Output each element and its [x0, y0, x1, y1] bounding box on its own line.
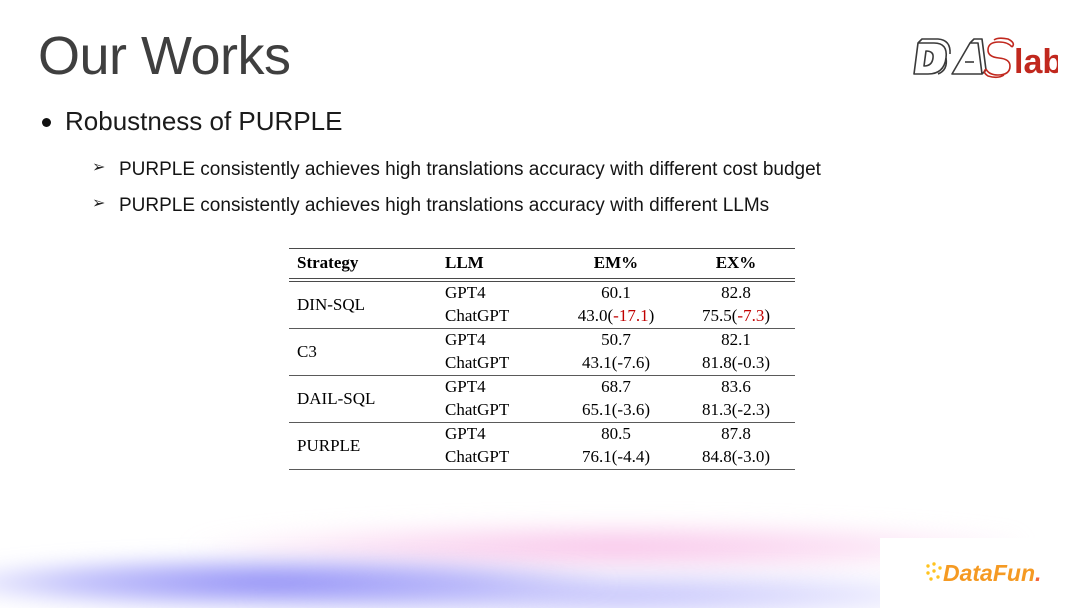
cell-llm: GPT4 [437, 282, 555, 306]
bullet-dot-icon [42, 118, 51, 127]
cell-em: 43.1(-7.6) [555, 352, 677, 376]
cell-llm: ChatGPT [437, 446, 555, 470]
cell-ex: 82.1 [677, 329, 795, 353]
datafun-wordmark-text: DataFun. [943, 560, 1041, 586]
table-row: DIN-SQLGPT460.182.8 [289, 282, 795, 306]
main-bullet-text: Robustness of PURPLE [65, 106, 342, 137]
col-header-ex: EX% [677, 249, 795, 279]
cell-llm: GPT4 [437, 423, 555, 447]
cell-strategy: DAIL-SQL [289, 376, 437, 423]
cell-em: 60.1 [555, 282, 677, 306]
col-header-llm: LLM [437, 249, 555, 279]
datafun-logo-icon: DataFun. [924, 556, 1064, 590]
results-table-wrapper: Strategy LLM EM% EX% DIN-SQLGPT460.182.8… [289, 248, 795, 470]
cell-llm: GPT4 [437, 329, 555, 353]
cell-llm: ChatGPT [437, 352, 555, 376]
daslab-lab-text: lab [1014, 43, 1058, 80]
sub-bullet-2: ➢ PURPLE consistently achieves high tran… [92, 192, 769, 220]
delta-value: -0.3 [737, 353, 764, 372]
table-row: C3GPT450.782.1 [289, 329, 795, 353]
wave-pink-band [0, 512, 1020, 582]
cell-strategy: C3 [289, 329, 437, 376]
sub-bullet-2-text: PURPLE consistently achieves high transl… [119, 192, 769, 220]
arrow-marker-icon: ➢ [92, 192, 106, 215]
datafun-logo: DataFun. [924, 556, 1064, 590]
cell-em: 50.7 [555, 329, 677, 353]
results-table: Strategy LLM EM% EX% DIN-SQLGPT460.182.8… [289, 248, 795, 470]
delta-value: -7.3 [737, 306, 764, 325]
cell-ex: 87.8 [677, 423, 795, 447]
delta-value: -2.3 [737, 400, 764, 419]
daslab-logo-icon: lab [908, 34, 1058, 80]
delta-value: -3.6 [617, 400, 644, 419]
cell-em: 65.1(-3.6) [555, 399, 677, 423]
table-header: Strategy LLM EM% EX% [289, 249, 795, 282]
arrow-marker-icon: ➢ [92, 156, 106, 179]
cell-ex: 83.6 [677, 376, 795, 400]
cell-ex: 82.8 [677, 282, 795, 306]
cell-em: 80.5 [555, 423, 677, 447]
cell-ex: 81.3(-2.3) [677, 399, 795, 423]
col-header-em: EM% [555, 249, 677, 279]
cell-ex: 81.8(-0.3) [677, 352, 795, 376]
delta-value: -4.4 [617, 447, 644, 466]
cell-ex: 75.5(-7.3) [677, 305, 795, 329]
cell-em: 43.0(-17.1) [555, 305, 677, 329]
cell-strategy: DIN-SQL [289, 282, 437, 329]
delta-value: -3.0 [737, 447, 764, 466]
wave-blue-band [0, 538, 830, 608]
table-header-row: Strategy LLM EM% EX% [289, 249, 795, 279]
col-header-strategy: Strategy [289, 249, 437, 279]
table-bottom-rule [289, 470, 795, 471]
sub-bullet-1: ➢ PURPLE consistently achieves high tran… [92, 156, 821, 184]
table-body: DIN-SQLGPT460.182.8ChatGPT43.0(-17.1)75.… [289, 282, 795, 471]
page-title: Our Works [38, 28, 291, 85]
cell-em: 68.7 [555, 376, 677, 400]
delta-value: -7.6 [617, 353, 644, 372]
cell-em: 76.1(-4.4) [555, 446, 677, 470]
decorative-wave [0, 498, 1080, 608]
cell-strategy: PURPLE [289, 423, 437, 470]
cell-ex: 84.8(-3.0) [677, 446, 795, 470]
table-row: PURPLEGPT480.587.8 [289, 423, 795, 447]
daslab-logo: lab [908, 34, 1058, 80]
bottom-rule-cell [289, 470, 795, 471]
table-row: DAIL-SQLGPT468.783.6 [289, 376, 795, 400]
cell-llm: ChatGPT [437, 305, 555, 329]
cell-llm: ChatGPT [437, 399, 555, 423]
main-bullet: Robustness of PURPLE [42, 106, 342, 137]
cell-llm: GPT4 [437, 376, 555, 400]
delta-value: -17.1 [613, 306, 648, 325]
slide-canvas: Our Works lab [0, 0, 1080, 608]
sub-bullet-1-text: PURPLE consistently achieves high transl… [119, 156, 821, 184]
